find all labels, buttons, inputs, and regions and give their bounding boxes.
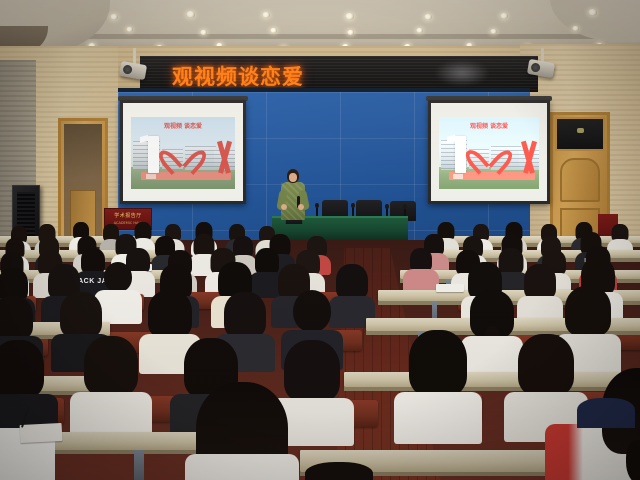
audience-member [404, 248, 438, 292]
downlight [572, 26, 579, 31]
downlight [345, 13, 354, 20]
hair [148, 290, 192, 338]
slide-heart-icon [475, 140, 503, 172]
downlight [588, 9, 597, 16]
ponytail [626, 440, 640, 480]
ceiling-seam [0, 34, 640, 39]
downlight [500, 13, 508, 19]
downlight [200, 30, 207, 35]
slide-title-right: 观视频 谈恋爱 [470, 121, 508, 130]
downlight [347, 30, 354, 35]
hair [524, 264, 556, 300]
hair [224, 292, 266, 338]
slide-heart-icon [168, 140, 197, 172]
presenter-hand-right [298, 204, 304, 210]
head [293, 290, 331, 332]
downlight [416, 28, 423, 33]
notebook [20, 423, 63, 443]
slide-letter-a [521, 140, 537, 173]
hair [60, 292, 102, 338]
presenter-hand-left [281, 204, 287, 210]
led-marquee-panel: 观视频谈恋爱 [140, 56, 538, 92]
projection-screen-right: 观视频 谈恋爱 [428, 100, 550, 204]
slide-plinth-plate [146, 174, 156, 179]
torso [394, 392, 482, 444]
projector-mount-rod-right [541, 48, 544, 62]
head [104, 262, 132, 292]
audience-member [72, 336, 150, 426]
presenter-face [289, 173, 297, 182]
downlight [262, 12, 270, 18]
torso [185, 454, 299, 480]
slide-numeral-one [148, 136, 159, 173]
collar [577, 398, 635, 428]
downlight [490, 29, 497, 34]
wall-plaque-text: 学术报告厅 [105, 212, 151, 219]
slide-left: 观视频 谈恋爱 [131, 117, 235, 189]
downlight [270, 28, 277, 33]
projector-mount-rod-left [133, 48, 136, 64]
downlight [110, 14, 118, 20]
projection-screen-left: 观视频 谈恋爱 [120, 100, 246, 204]
hair [565, 286, 611, 336]
slide-letter-a [216, 140, 233, 173]
lecture-hall-photo: 观视频谈恋爱 观视频 谈恋爱 [0, 0, 640, 480]
led-glare [434, 60, 490, 86]
slide-title-left: 观视频 谈恋爱 [164, 121, 202, 130]
hair [305, 462, 373, 480]
hair [0, 340, 44, 398]
led-marquee-text: 观视频谈恋爱 [172, 61, 304, 91]
door-right-transom [555, 117, 605, 151]
slide-right: 观视频 谈恋爱 [439, 117, 539, 189]
downlight [186, 11, 195, 18]
audience-member-foreground-left [186, 382, 298, 480]
hair [0, 296, 33, 340]
audience-member-partial-bottom [302, 462, 376, 480]
hair [84, 336, 138, 396]
audience-member [396, 330, 480, 426]
desk-leg [134, 450, 144, 480]
notebook [436, 284, 464, 292]
downlight [424, 14, 432, 20]
door-right-panel-upper [560, 158, 600, 202]
audience-member-navy-collar [576, 398, 636, 438]
slide-plinth-plate [453, 174, 463, 179]
transom-fixture-icon [577, 128, 584, 133]
downlight [126, 27, 133, 32]
hair [409, 330, 467, 396]
